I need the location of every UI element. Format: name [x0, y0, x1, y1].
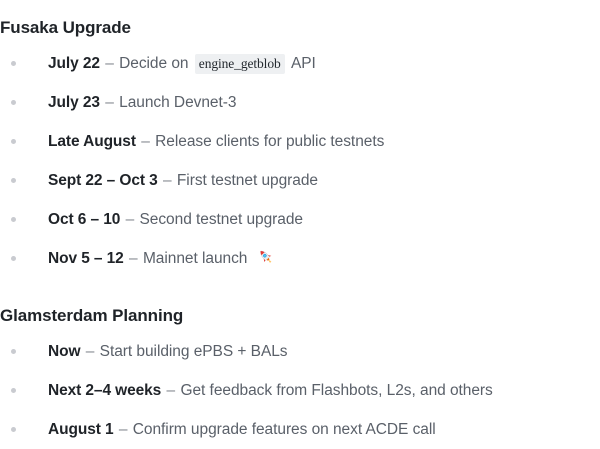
list-item-text: First testnet upgrade	[177, 172, 318, 189]
list-item-text: Launch Devnet-3	[119, 94, 236, 111]
list-item-separator: –	[166, 382, 177, 399]
list-item: July 22 – Decide on engine_getblob API	[0, 44, 600, 83]
list-item-text-after: API	[291, 55, 316, 72]
list-item-separator: –	[128, 250, 139, 267]
list-item-separator: –	[85, 343, 96, 360]
list-item-label: Nov 5 – 12	[48, 250, 124, 267]
list-item-label: Late August	[48, 133, 136, 150]
bullet-dot-icon	[11, 256, 16, 261]
section-heading-glamsterdam: Glamsterdam Planning	[0, 306, 183, 326]
list-item-label: Oct 6 – 10	[48, 211, 120, 228]
list-item: August 1 – Confirm upgrade features on n…	[0, 410, 600, 449]
document-page: Fusaka Upgrade July 22 – Decide on engin…	[0, 0, 600, 449]
bullet-dot-icon	[11, 217, 16, 222]
bullet-dot-icon	[11, 100, 16, 105]
list-item-separator: –	[104, 94, 115, 111]
rocket-icon	[257, 242, 275, 281]
bullet-dot-icon	[11, 349, 16, 354]
bullet-dot-icon	[11, 61, 16, 66]
list-item-text: Mainnet launch	[143, 250, 247, 267]
list-item-label: Next 2–4 weeks	[48, 382, 161, 399]
list-item-text: Second testnet upgrade	[140, 211, 304, 228]
bullet-dot-icon	[11, 427, 16, 432]
code-span: engine_getblob	[195, 54, 285, 74]
list-item: Late August – Release clients for public…	[0, 122, 600, 161]
list-item-label: Now	[48, 343, 80, 360]
list-item-text: Confirm upgrade features on next ACDE ca…	[133, 421, 436, 438]
bullet-list-glamsterdam: Now – Start building ePBS + BALs Next 2–…	[0, 332, 600, 449]
list-item-text: Start building ePBS + BALs	[100, 343, 288, 360]
list-item-text: Release clients for public testnets	[155, 133, 384, 150]
list-item-text: Decide on	[119, 55, 188, 72]
section-heading-fusaka: Fusaka Upgrade	[0, 18, 131, 38]
list-item-text: Get feedback from Flashbots, L2s, and ot…	[180, 382, 492, 399]
list-item-label: Sept 22 – Oct 3	[48, 172, 158, 189]
list-item-separator: –	[140, 133, 151, 150]
bullet-dot-icon	[11, 139, 16, 144]
bullet-dot-icon	[11, 178, 16, 183]
list-item: Now – Start building ePBS + BALs	[0, 332, 600, 371]
list-item-label: July 22	[48, 55, 100, 72]
list-item: Next 2–4 weeks – Get feedback from Flash…	[0, 371, 600, 410]
list-item-separator: –	[104, 55, 115, 72]
bullet-dot-icon	[11, 388, 16, 393]
bullet-list-fusaka: July 22 – Decide on engine_getblob API J…	[0, 44, 600, 278]
list-item-separator: –	[125, 211, 136, 228]
list-item-label: August 1	[48, 421, 114, 438]
list-item-label: July 23	[48, 94, 100, 111]
list-item: Oct 6 – 10 – Second testnet upgrade	[0, 200, 600, 239]
list-item: Sept 22 – Oct 3 – First testnet upgrade	[0, 161, 600, 200]
list-item: July 23 – Launch Devnet-3	[0, 83, 600, 122]
list-item-separator: –	[118, 421, 129, 438]
list-item-separator: –	[162, 172, 173, 189]
list-item: Nov 5 – 12 – Mainnet launch	[0, 239, 600, 278]
